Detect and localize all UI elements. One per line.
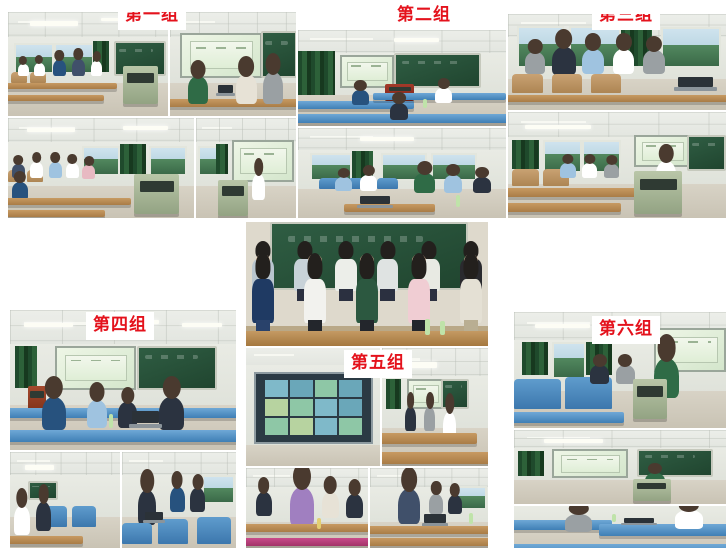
group-6-label: 第六组 xyxy=(592,316,660,344)
photo-5c xyxy=(246,468,368,548)
group-2-block: 第二组 xyxy=(298,0,506,218)
photo-6b xyxy=(514,430,726,504)
collage-canvas: 第一组 xyxy=(0,0,728,548)
photo-1d xyxy=(196,118,296,218)
portrait-person xyxy=(251,254,275,331)
group-5-label: 第五组 xyxy=(344,350,412,378)
group-portrait xyxy=(246,222,488,346)
group-3-label: 第三组 xyxy=(592,14,660,30)
group-2-label: 第二组 xyxy=(390,2,458,30)
group-1-block: 第一组 xyxy=(8,12,296,218)
photo-1c xyxy=(8,118,194,218)
portrait-person xyxy=(355,254,379,331)
photo-1b xyxy=(170,12,296,116)
photo-4b xyxy=(10,452,120,548)
group-6-block: 第六组 xyxy=(514,312,726,548)
video-conference-grid xyxy=(265,380,362,435)
portrait-person xyxy=(459,254,483,331)
group-1-label: 第一组 xyxy=(118,12,186,30)
photo-5d xyxy=(370,468,488,548)
water-bottle xyxy=(440,321,445,335)
group-5-block: 第五组 xyxy=(246,348,488,548)
water-bottle xyxy=(425,319,430,335)
group-3-block: 第三组 xyxy=(508,14,726,218)
group-4-block: 第四组 xyxy=(10,310,236,548)
portrait-front-row xyxy=(251,254,483,331)
group-4-label: 第四组 xyxy=(86,312,154,340)
photo-6c xyxy=(514,506,726,548)
portrait-person xyxy=(303,254,327,331)
photo-2b xyxy=(298,128,506,218)
group-portrait-block xyxy=(246,222,488,346)
photo-2a xyxy=(298,30,506,126)
photo-3b xyxy=(508,112,726,218)
photo-4c xyxy=(122,452,236,548)
